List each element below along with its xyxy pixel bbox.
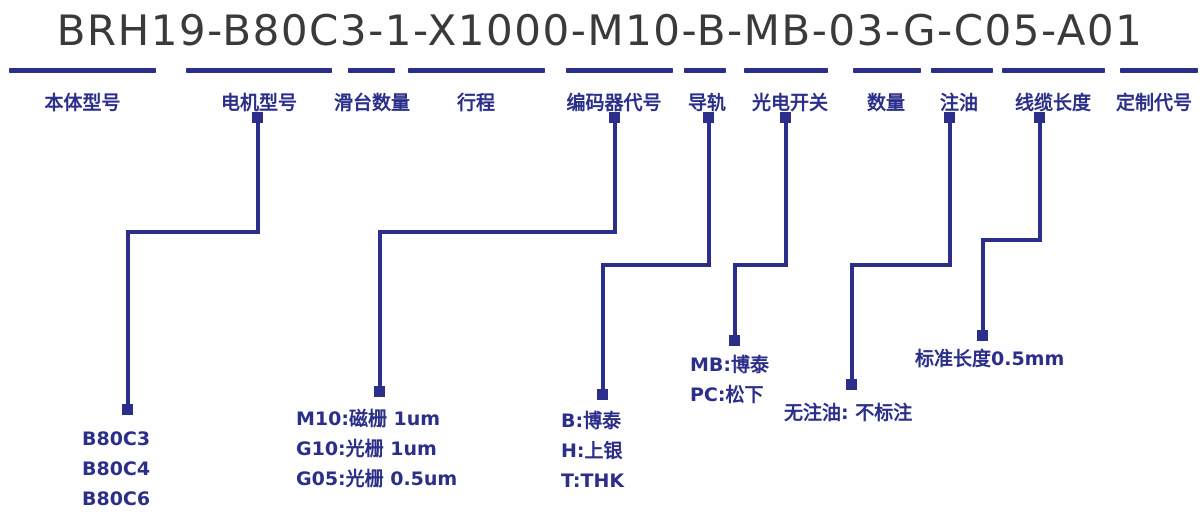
segment-label-quantity: 数量 (852, 88, 920, 115)
segment-bar-stroke (408, 68, 545, 73)
page-title: BRH19-B80C3-1-X1000-M10-B-MB-03-G-C05-A0… (0, 0, 1200, 60)
callout-body-model: B80C3 B80C4 B80C6 (82, 424, 150, 514)
leader-vert-photo-b (733, 263, 737, 339)
callout-oiling-line-1: 无注油: 不标注 (784, 398, 912, 428)
callout-encoder-code-line-1: M10:磁栅 1um (296, 404, 457, 434)
segment-bar-encoder-code (566, 68, 673, 73)
segment-bar-body-model (9, 68, 156, 73)
callout-body-model-line-3: B80C6 (82, 484, 150, 514)
callout-cable-length: 标准长度0.5mm (915, 344, 1064, 374)
segment-label-body-model: 本体型号 (9, 88, 156, 115)
leader-endnode-photo-switch (729, 335, 740, 346)
leader-horz-oiling (850, 263, 952, 267)
callout-oiling: 无注油: 不标注 (784, 398, 912, 428)
leader-endnode-oiling (846, 379, 857, 390)
segment-label-cable-length: 线缆长度 (1000, 88, 1106, 115)
callout-body-model-line-2: B80C4 (82, 454, 150, 484)
segment-bar-custom-code (1120, 68, 1198, 73)
leader-horz-photo (733, 263, 788, 267)
callout-guide-rail: B:博泰 H:上银 T:THK (561, 406, 624, 496)
segment-label-guide-rail: 导轨 (678, 88, 736, 115)
segment-bar-cable-length (1002, 68, 1105, 73)
callout-encoder-code-line-2: G10:光栅 1um (296, 434, 457, 464)
callout-photo-switch: MB:博泰 PC:松下 (690, 350, 769, 410)
segment-bar-guide-rail (684, 68, 726, 73)
segment-label-stroke: 行程 (428, 88, 524, 115)
model-number-breakdown-diagram: BRH19-B80C3-1-X1000-M10-B-MB-03-G-C05-A0… (0, 0, 1200, 519)
callout-guide-rail-line-1: B:博泰 (561, 406, 624, 436)
leader-vert-guide-a (707, 118, 711, 267)
callout-guide-rail-line-3: T:THK (561, 466, 624, 496)
leader-vert-oiling-b (850, 263, 854, 383)
leader-horz-guide (601, 263, 711, 267)
segment-label-custom-code: 定制代号 (1108, 88, 1200, 115)
leader-horz-encoder (378, 230, 617, 234)
leader-endnode-encoder-code (374, 386, 385, 397)
leader-vert-body-model-a (256, 118, 260, 234)
segment-label-oiling: 注油 (928, 88, 990, 115)
leader-horz-cable (981, 238, 1042, 242)
callout-photo-switch-line-1: MB:博泰 (690, 350, 769, 380)
leader-endnode-guide-rail (597, 389, 608, 400)
leader-vert-cable-a (1038, 118, 1042, 242)
segment-bar-photo-switch (744, 68, 828, 73)
segment-label-encoder-code: 编码器代号 (554, 88, 674, 115)
callout-encoder-code: M10:磁栅 1um G10:光栅 1um G05:光栅 0.5um (296, 404, 457, 494)
segment-label-motor-model: 电机型号 (186, 88, 332, 115)
segment-label-photo-switch: 光电开关 (742, 88, 838, 115)
callout-encoder-code-line-3: G05:光栅 0.5um (296, 464, 457, 494)
callout-photo-switch-line-2: PC:松下 (690, 380, 769, 410)
segment-bar-motor-model (186, 68, 332, 73)
leader-vert-encoder-b (378, 230, 382, 390)
leader-vert-encoder-a (613, 118, 617, 234)
leader-vert-cable-b (981, 238, 985, 334)
callout-cable-length-line-1: 标准长度0.5mm (915, 344, 1064, 374)
leader-vert-guide-b (601, 263, 605, 393)
segment-bar-quantity (853, 68, 921, 73)
leader-endnode-cable-length (977, 330, 988, 341)
callout-body-model-line-1: B80C3 (82, 424, 150, 454)
callout-guide-rail-line-2: H:上银 (561, 436, 624, 466)
leader-vert-oiling-a (948, 118, 952, 267)
segment-label-slider-count: 滑台数量 (324, 88, 420, 115)
leader-endnode-body-model (122, 404, 133, 415)
leader-vert-photo-a (784, 118, 788, 267)
segment-bar-slider-count (348, 68, 395, 73)
leader-horz-body-model (126, 230, 260, 234)
leader-vert-body-model-b (126, 230, 130, 408)
segment-bar-oiling (931, 68, 993, 73)
